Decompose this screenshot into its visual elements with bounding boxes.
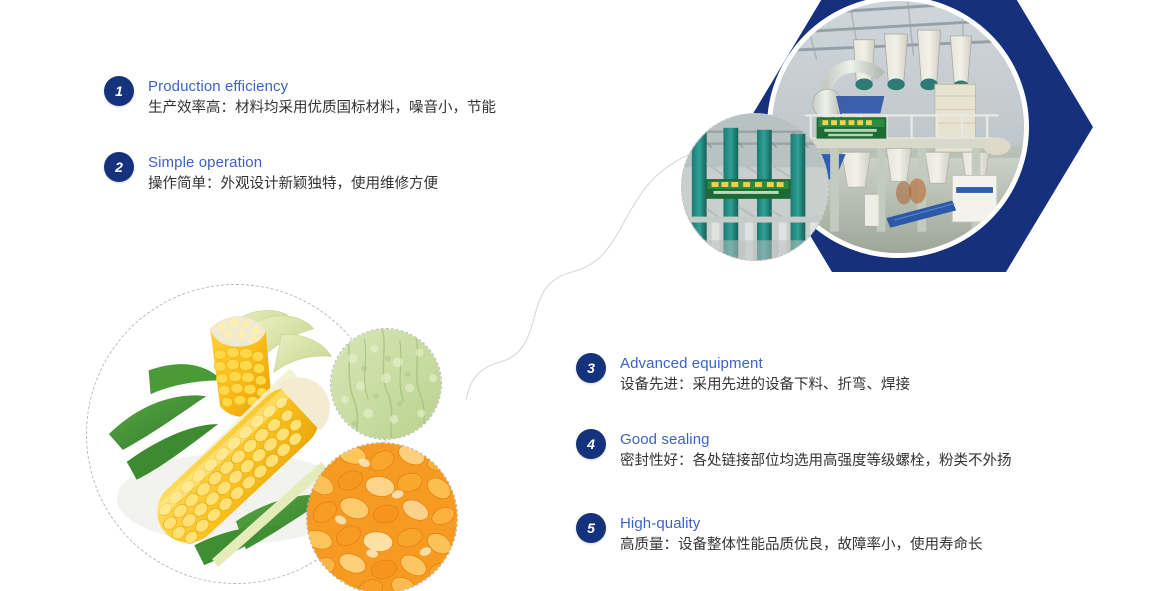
feature-title-2: Simple operation [148,153,438,172]
corn-flour-photo [330,328,442,440]
feature-desc-5: 高质量：设备整体性能品质优良，故障率小，使用寿命长 [620,534,983,556]
feature-item-5[interactable]: 5 High-quality 高质量：设备整体性能品质优良，故障率小，使用寿命长 [576,513,983,556]
feature-item-3[interactable]: 3 Advanced equipment 设备先进：采用先进的设备下料、折弯、焊… [576,353,910,396]
feature-desc-2: 操作简单：外观设计新颖独特，使用维修方便 [148,173,438,195]
feature-text-5: High-quality 高质量：设备整体性能品质优良，故障率小，使用寿命长 [620,513,983,556]
feature-item-1[interactable]: 1 Production efficiency 生产效率高：材料均采用优质国标材… [104,76,496,119]
feature-badge-4: 4 [576,429,606,459]
feature-desc-1: 生产效率高：材料均采用优质国标材料，噪音小，节能 [148,97,496,119]
feature-text-4: Good sealing 密封性好：各处链接部位均选用高强度等级螺栓，粉类不外扬 [620,429,1012,472]
feature-text-1: Production efficiency 生产效率高：材料均采用优质国标材料，… [148,76,496,119]
feature-desc-3: 设备先进：采用先进的设备下料、折弯、焊接 [620,374,910,396]
factory-small-photo [681,113,829,261]
feature-text-2: Simple operation 操作简单：外观设计新颖独特，使用维修方便 [148,152,438,195]
feature-badge-5: 5 [576,513,606,543]
feature-badge-2: 2 [104,152,134,182]
feature-badge-1: 1 [104,76,134,106]
feature-title-5: High-quality [620,514,983,533]
feature-item-2[interactable]: 2 Simple operation 操作简单：外观设计新颖独特，使用维修方便 [104,152,438,195]
corn-grits-photo [306,442,458,591]
feature-title-3: Advanced equipment [620,354,910,373]
feature-badge-3: 3 [576,353,606,383]
corn-image-group [86,282,486,591]
feature-title-1: Production efficiency [148,77,496,96]
feature-text-3: Advanced equipment 设备先进：采用先进的设备下料、折弯、焊接 [620,353,910,396]
promo-infographic: 1 Production efficiency 生产效率高：材料均采用优质国标材… [0,0,1154,591]
feature-item-4[interactable]: 4 Good sealing 密封性好：各处链接部位均选用高强度等级螺栓，粉类不… [576,429,1012,472]
feature-title-4: Good sealing [620,430,1012,449]
feature-desc-4: 密封性好：各处链接部位均选用高强度等级螺栓，粉类不外扬 [620,450,1012,472]
